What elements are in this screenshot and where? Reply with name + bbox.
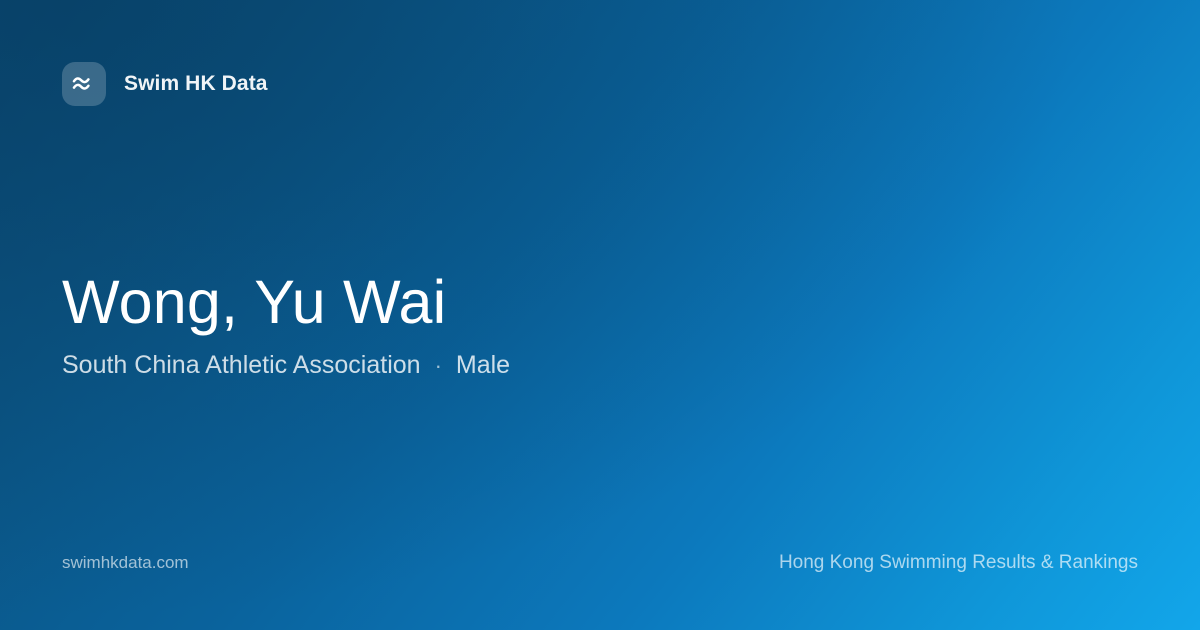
athlete-gender: Male [456,350,510,380]
brand-name: Swim HK Data [124,72,268,96]
og-card: Swim HK Data Wong, Yu Wai South China At… [0,0,1200,630]
site-tagline: Hong Kong Swimming Results & Rankings [779,552,1138,574]
meta-separator: · [421,353,456,379]
athlete-club: South China Athletic Association [62,350,421,380]
footer: swimhkdata.com Hong Kong Swimming Result… [62,552,1138,574]
site-url: swimhkdata.com [62,553,189,573]
wave-approx-icon [62,62,106,106]
athlete-summary: Wong, Yu Wai South China Athletic Associ… [62,270,1072,380]
brand-header[interactable]: Swim HK Data [62,62,268,106]
athlete-meta: South China Athletic Association · Male [62,350,1072,380]
page-title: Wong, Yu Wai [62,270,1072,336]
